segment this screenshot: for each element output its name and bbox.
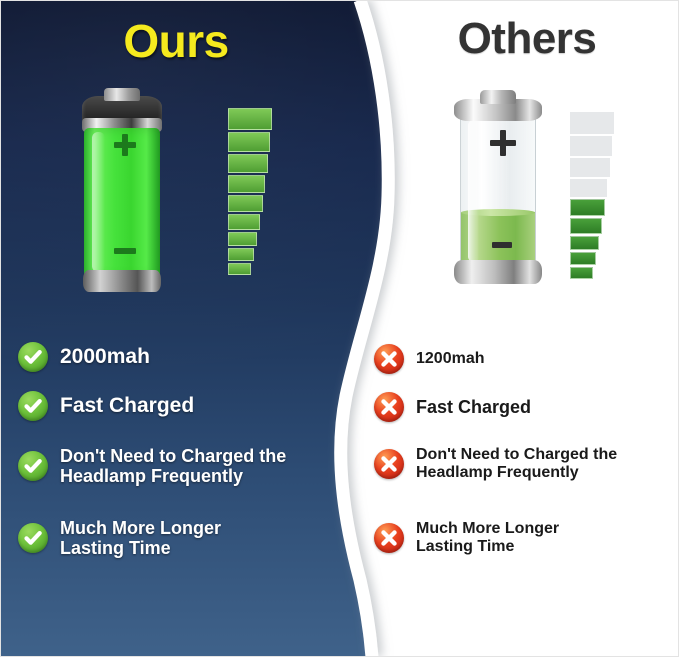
comparison-infographic: Ours Others 2000mahFast ChargedDon't Nee… [0,0,679,657]
image-border [0,0,679,657]
